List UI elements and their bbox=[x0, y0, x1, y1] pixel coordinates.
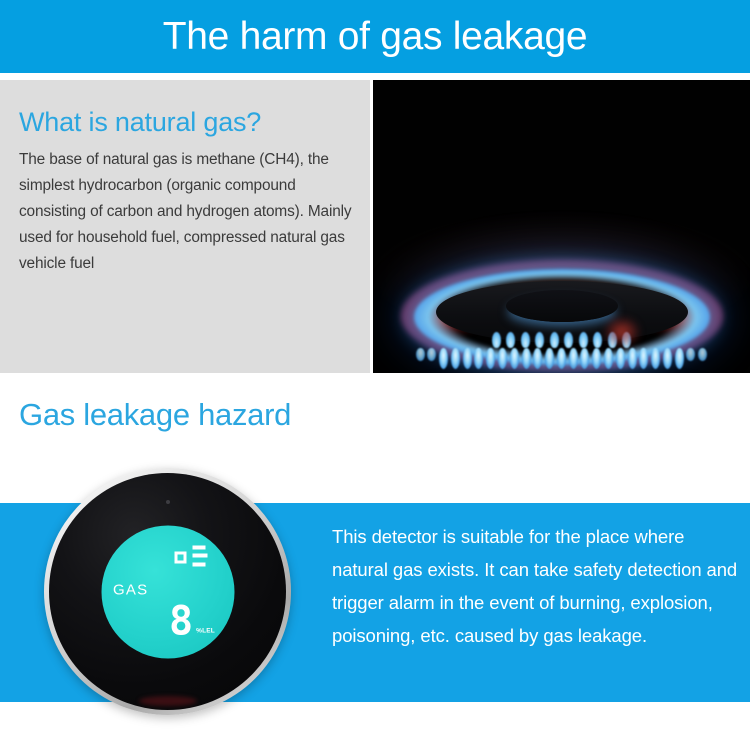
detector-display-screen: GAS 8 %LEL bbox=[101, 525, 234, 658]
display-reading: 8 %LEL bbox=[169, 602, 215, 640]
hazard-body-text: This detector is suitable for the place … bbox=[332, 520, 742, 652]
page-title: The harm of gas leakage bbox=[0, 0, 750, 73]
detector-bottom-highlight bbox=[139, 696, 197, 706]
hazard-heading: Gas leakage hazard bbox=[19, 397, 291, 433]
natural-gas-info-panel: What is natural gas? The base of natural… bbox=[0, 80, 370, 373]
detector-pinhole-icon bbox=[166, 500, 170, 504]
header-banner: The harm of gas leakage bbox=[0, 0, 750, 73]
gas-burner-flame-photo bbox=[373, 80, 750, 373]
natural-gas-body-text: The base of natural gas is methane (CH4)… bbox=[19, 147, 359, 277]
signal-bars-icon bbox=[174, 544, 212, 566]
detector-face: GAS 8 %LEL bbox=[49, 473, 286, 710]
infographic-page: The harm of gas leakage What is natural … bbox=[0, 0, 750, 750]
gas-detector-device: GAS 8 %LEL bbox=[44, 468, 291, 715]
display-reading-unit: %LEL bbox=[196, 627, 215, 634]
natural-gas-heading: What is natural gas? bbox=[19, 107, 261, 138]
burner-cap-inner bbox=[506, 290, 618, 322]
signal-square-glyph bbox=[174, 551, 186, 563]
display-gas-label: GAS bbox=[113, 581, 148, 598]
signal-bar-stack bbox=[192, 545, 207, 566]
flame-red-tip-center bbox=[605, 318, 639, 346]
display-reading-value: 8 bbox=[169, 602, 193, 640]
